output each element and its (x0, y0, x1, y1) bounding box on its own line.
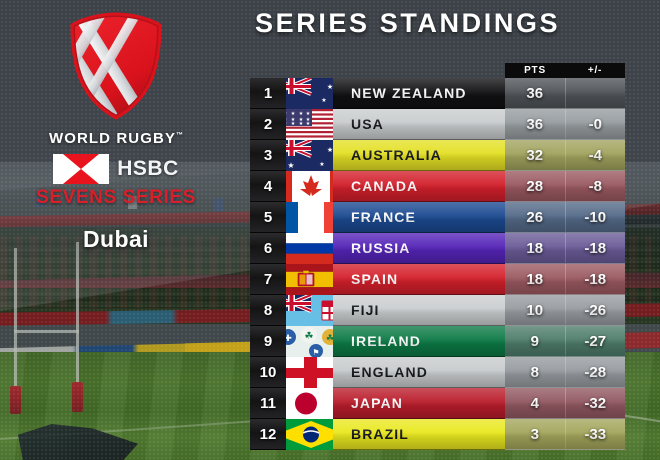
svg-text:⚑: ⚑ (312, 348, 319, 357)
team-name: FRANCE (351, 209, 416, 225)
points-value: 26 (505, 202, 566, 232)
stats-panel: 3636-032-428-826-1018-1818-1810-269-278-… (505, 78, 625, 450)
team-name: IRELAND (351, 333, 421, 349)
stats-row: 18-18 (505, 264, 625, 295)
points-value: 9 (505, 326, 566, 356)
point-difference-value: -4 (566, 140, 626, 170)
team-flag-esp (286, 264, 333, 295)
rank-number: 8 (250, 295, 286, 326)
point-difference-value (566, 78, 626, 108)
team-name: BRAZIL (351, 426, 409, 442)
sevens-series-text: SEVENS SERIES (0, 187, 232, 209)
stats-row: 36 (505, 78, 625, 109)
column-header-pts: PTS (505, 63, 565, 78)
team-name: ENGLAND (351, 364, 428, 380)
stats-row: 18-18 (505, 233, 625, 264)
hsbc-hexagon-icon (53, 154, 109, 184)
svg-text:☘: ☘ (305, 331, 314, 342)
rank-number: 7 (250, 264, 286, 295)
svg-text:★: ★ (306, 121, 311, 127)
team-flag-eng (286, 357, 333, 388)
stats-row: 9-27 (505, 326, 625, 357)
rank-number: 4 (250, 171, 286, 202)
stats-row: 36-0 (505, 109, 625, 140)
points-value: 18 (505, 264, 566, 294)
team-flag-can (286, 171, 333, 202)
team-flag-fij (286, 295, 333, 326)
branding-block: WORLD RUGBY™ HSBC SEVENS SERIES Dubai (0, 6, 232, 253)
svg-text:★: ★ (327, 83, 333, 91)
rank-number: 6 (250, 233, 286, 264)
world-rugby-wordmark: WORLD RUGBY™ (0, 130, 232, 147)
team-flag-rus (286, 233, 333, 264)
world-rugby-logo (0, 6, 232, 126)
team-name: SPAIN (351, 271, 398, 287)
rank-number: 10 (250, 357, 286, 388)
stats-row: 26-10 (505, 202, 625, 233)
rank-number: 2 (250, 109, 286, 140)
rank-number: 9 (250, 326, 286, 357)
point-difference-value: -32 (566, 388, 626, 418)
table-column-headers: PTS +/- (505, 63, 625, 78)
point-difference-value: -8 (566, 171, 626, 201)
point-difference-value: -10 (566, 202, 626, 232)
team-flag-nz: ★ ★ ★ ★ (286, 78, 333, 109)
team-flag-bra (286, 419, 333, 450)
rank-number: 5 (250, 202, 286, 233)
trademark-symbol: ™ (176, 132, 183, 139)
stats-row: 10-26 (505, 295, 625, 326)
points-value: 36 (505, 109, 566, 139)
team-name: FIJI (351, 302, 380, 318)
svg-text:✚: ✚ (286, 333, 292, 343)
world-rugby-shield-icon (56, 6, 176, 126)
points-value: 36 (505, 78, 566, 108)
point-difference-value: -18 (566, 233, 626, 263)
page-title: SERIES STANDINGS (255, 8, 560, 39)
points-value: 10 (505, 295, 566, 325)
point-difference-value: -27 (566, 326, 626, 356)
stats-row: 28-8 (505, 171, 625, 202)
team-name: CANADA (351, 178, 418, 194)
points-value: 3 (505, 419, 566, 449)
tournament-city: Dubai (0, 226, 232, 253)
points-value: 28 (505, 171, 566, 201)
point-difference-value: -0 (566, 109, 626, 139)
team-name: USA (351, 116, 384, 132)
hsbc-text: HSBC (117, 157, 179, 181)
svg-text:★: ★ (327, 146, 333, 154)
stats-row: 3-33 (505, 419, 625, 450)
column-header-diff: +/- (565, 63, 625, 78)
svg-text:★: ★ (321, 97, 326, 104)
rank-number: 11 (250, 388, 286, 419)
stats-row: 8-28 (505, 357, 625, 388)
svg-text:★: ★ (287, 161, 294, 170)
point-difference-value: -28 (566, 357, 626, 387)
team-flag-usa: ★★★★★★★★★★★★★★★★ (286, 109, 333, 140)
rank-number: 3 (250, 140, 286, 171)
point-difference-value: -26 (566, 295, 626, 325)
points-value: 4 (505, 388, 566, 418)
screenshot-root: SERIES STANDINGS (0, 0, 660, 460)
team-name: AUSTRALIA (351, 147, 442, 163)
team-flag-fra (286, 202, 333, 233)
team-flag-aus: ★ ★ ★ ★ (286, 140, 333, 171)
point-difference-value: -33 (566, 419, 626, 449)
team-flag-jpn (286, 388, 333, 419)
rank-number: 1 (250, 78, 286, 109)
points-value: 18 (505, 233, 566, 263)
team-name: RUSSIA (351, 240, 411, 256)
hsbc-lockup: HSBC (0, 154, 232, 184)
points-value: 8 (505, 357, 566, 387)
svg-text:☘: ☘ (326, 333, 333, 343)
team-name: JAPAN (351, 395, 403, 411)
rank-number: 12 (250, 419, 286, 450)
team-name: NEW ZEALAND (351, 85, 467, 101)
stats-row: 4-32 (505, 388, 625, 419)
svg-text:★: ★ (319, 161, 324, 168)
stats-row: 32-4 (505, 140, 625, 171)
team-flag-irl: ✚ ☘ ☘ ⚑ (286, 326, 333, 357)
svg-text:★: ★ (291, 121, 296, 127)
points-value: 32 (505, 140, 566, 170)
svg-text:★: ★ (299, 121, 304, 127)
world-rugby-text: WORLD RUGBY (49, 130, 176, 147)
point-difference-value: -18 (566, 264, 626, 294)
